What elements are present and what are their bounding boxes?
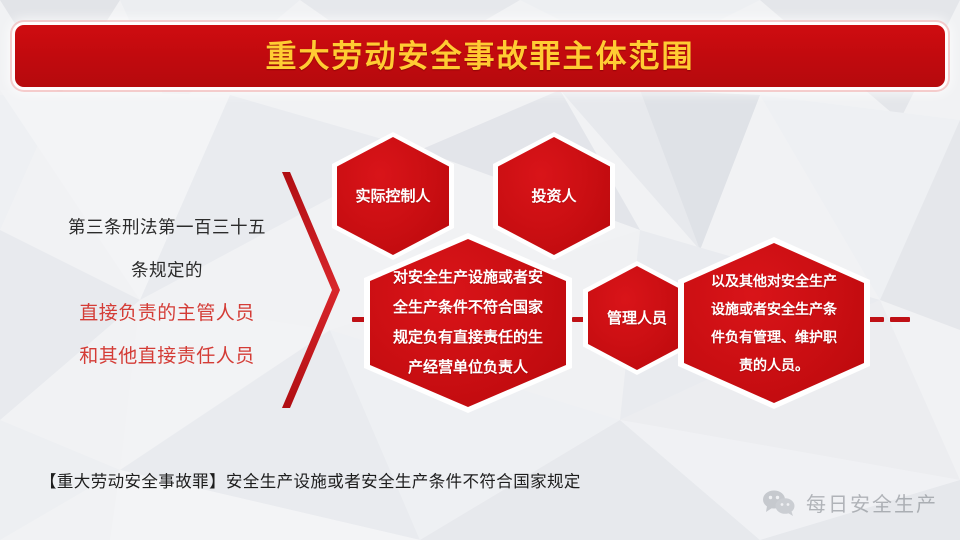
hexagon-management-staff-label: 管理人员 — [601, 308, 673, 329]
hex-line: 以及其他对安全生产 — [711, 267, 837, 295]
left-statute-text: 第三条刑法第一百三十五 条规定的 直接负责的主管人员 和其他直接责任人员 — [42, 206, 292, 378]
hex-line: 全生产条件不符合国家 — [393, 293, 543, 323]
hex-line: 责的人员。 — [711, 351, 837, 379]
hex-line: 产经营单位负责人 — [393, 353, 543, 383]
hex-line: 件负有管理、维护职 — [711, 323, 837, 351]
hexagon-investor-label: 投资人 — [525, 186, 582, 207]
page-title: 重大劳动安全事故罪主体范围 — [266, 41, 695, 72]
connector-dash-right-outer — [890, 317, 910, 322]
statute-line-4: 和其他直接责任人员 — [42, 335, 292, 378]
hex-line: 管理人员 — [607, 308, 667, 329]
statute-line-2: 条规定的 — [42, 249, 292, 292]
statute-line-3: 直接负责的主管人员 — [42, 292, 292, 335]
hexagon-responsible-person-label: 对安全生产设施或者安 全生产条件不符合国家 规定负有直接责任的生 产经营单位负责… — [387, 263, 549, 383]
wechat-icon — [762, 489, 796, 517]
hex-line: 对安全生产设施或者安 — [393, 263, 543, 293]
statute-line-1: 第三条刑法第一百三十五 — [42, 206, 292, 249]
slide-canvas: 重大劳动安全事故罪主体范围 第三条刑法第一百三十五 条规定的 直接负责的主管人员… — [0, 0, 960, 540]
title-bar: 重大劳动安全事故罪主体范围 — [15, 25, 945, 87]
watermark: 每日安全生产 — [762, 488, 938, 517]
hex-line: 规定负有直接责任的生 — [393, 323, 543, 353]
hex-line: 实际控制人 — [355, 186, 430, 207]
bottom-caption: 【重大劳动安全事故罪】安全生产设施或者安全生产条件不符合国家规定 — [40, 468, 581, 492]
hexagon-actual-controller-label: 实际控制人 — [349, 186, 436, 207]
hex-line: 设施或者安全生产条 — [711, 295, 837, 323]
watermark-label: 每日安全生产 — [806, 488, 938, 517]
hex-line: 投资人 — [531, 186, 576, 207]
hexagon-other-duty-staff-label: 以及其他对安全生产 设施或者安全生产条 件负有管理、维护职 责的人员。 — [705, 267, 843, 379]
